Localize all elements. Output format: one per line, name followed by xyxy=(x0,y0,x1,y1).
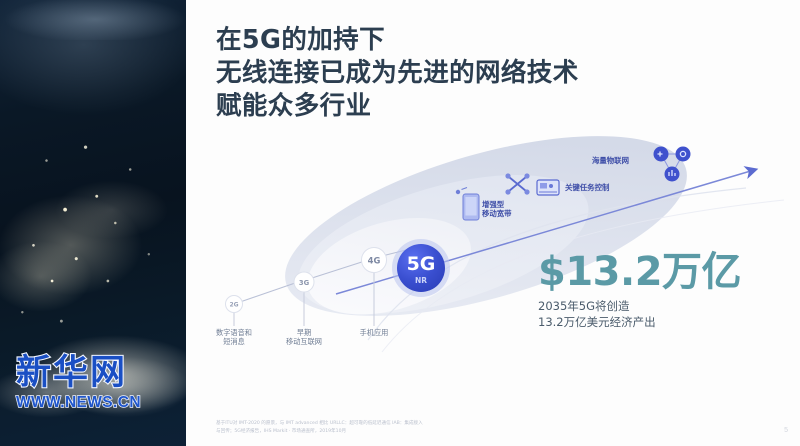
node-3g[interactable]: 3G xyxy=(294,272,314,292)
footnote-line-2: 与回传；5G经济报告，IHS Markit · 市场通查所，2019年10月 xyxy=(216,428,636,436)
svg-text:5G: 5G xyxy=(407,253,436,275)
headline-line-1: 在5G的加持下 xyxy=(216,24,756,57)
footnote-line-1: 基于ITU对 IMT-2020 的愿景，与 IMT advanced 相比 UR… xyxy=(216,420,636,428)
svg-text:NR: NR xyxy=(415,276,427,285)
cloud-overlay-top xyxy=(0,0,200,40)
callout-value: $13.2万亿 xyxy=(538,252,741,292)
headline-line-2: 无线连接已成为先进的网络技术 xyxy=(216,57,756,90)
slide-canvas: 新华网 WWW.NEWS.CN 在5G的加持下 无线连接已成为先进的网络技术 赋… xyxy=(0,0,800,446)
svg-text:2G: 2G xyxy=(229,302,238,309)
use-case-label-urllc: 关键任务控制 xyxy=(565,183,609,192)
footnote: 基于ITU对 IMT-2020 的愿景，与 IMT advanced 相比 UR… xyxy=(216,420,636,436)
page-title: 在5G的加持下 无线连接已成为先进的网络技术 赋能众多行业 xyxy=(216,24,756,123)
node-2g[interactable]: 2G xyxy=(226,296,243,313)
page-number: 5 xyxy=(784,427,788,434)
use-case-label-mmtc: 海量物联网 xyxy=(592,156,629,165)
callout-subtext: 2035年5G将创造 13.2万亿美元经济产出 xyxy=(538,298,741,330)
xinhua-watermark: 新华网 WWW.NEWS.CN xyxy=(16,356,141,412)
svg-text:4G: 4G xyxy=(368,255,381,265)
generation-caption-4g: 手机应用 xyxy=(331,328,417,337)
headline-line-3: 赋能众多行业 xyxy=(216,90,756,123)
watermark-url: WWW.NEWS.CN xyxy=(16,394,141,412)
economic-callout: $13.2万亿 2035年5G将创造 13.2万亿美元经济产出 xyxy=(538,252,741,330)
svg-text:3G: 3G xyxy=(299,279,310,287)
node-4g[interactable]: 4G xyxy=(362,248,387,273)
vehicle-icon xyxy=(537,180,559,195)
watermark-name: 新华网 xyxy=(16,356,141,391)
node-5g-nr[interactable]: 5G NR xyxy=(392,239,450,297)
use-case-label-embb: 增强型 移动宽带 xyxy=(482,200,512,218)
